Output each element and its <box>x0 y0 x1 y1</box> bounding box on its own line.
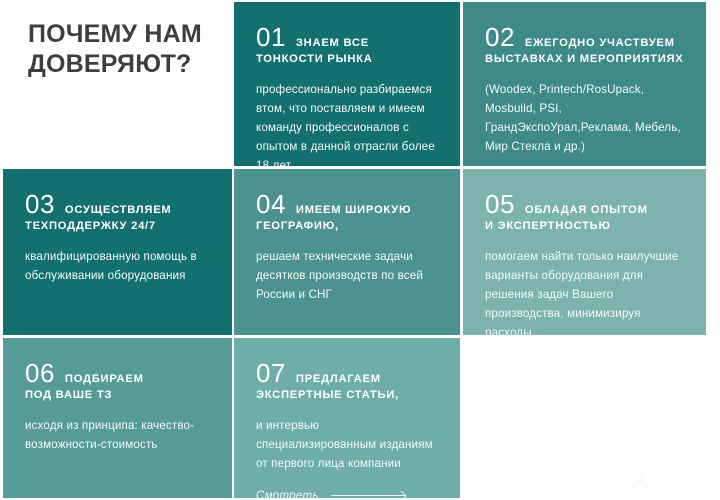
card-heading-first-line: 02 ЕЖЕГОДНО УЧАСТВУЕМ <box>485 24 686 51</box>
card-body-text: помогаем найти только наилучшие варианты… <box>485 248 686 335</box>
feature-card-03[interactable]: 03 ОСУЩЕСТВЛЯЕМ ТЕХПОДДЕРЖКУ 24/7 квалиф… <box>3 169 232 335</box>
card-content: 06 ПОДБИРАЕМ ПОД ВАШЕ ТЗ исходя из принц… <box>25 360 212 482</box>
card-content: 07 ПРЕДЛАГАЕМ ЭКСПЕРТНЫЕ СТАТЬИ, и интер… <box>256 360 440 482</box>
card-heading-first-line: 04 ИМЕЕМ ШИРОКУЮ <box>256 191 440 218</box>
infographic-board: ПОЧЕМУ НАМ ДОВЕРЯЮТ? 01 ЗНАЕМ ВСЕ ТОНКОС… <box>0 0 720 500</box>
card-number: 06 <box>25 360 55 386</box>
card-heading-line2: ЭКСПЕРТНЫЕ СТАТЬИ, <box>256 387 440 403</box>
avito-watermark-label: Avito <box>656 467 706 488</box>
card-heading-line1: ЗНАЕМ ВСЕ <box>296 35 369 51</box>
card-heading: 01 ЗНАЕМ ВСЕ ТОНКОСТИ РЫНКА <box>256 24 440 67</box>
card-heading-line1: ПОДБИРАЕМ <box>65 371 144 387</box>
avito-dots-icon <box>630 469 651 487</box>
card-body-text: (Woodex, Printech/RosUpack, Mosbuild, PS… <box>485 81 686 156</box>
card-body-text: квалифицированную помощь в обслуживании … <box>25 248 212 286</box>
card-number: 07 <box>256 360 286 386</box>
card-heading: 07 ПРЕДЛАГАЕМ ЭКСПЕРТНЫЕ СТАТЬИ, <box>256 360 440 403</box>
arrow-right-icon <box>331 491 405 498</box>
feature-card-06[interactable]: 06 ПОДБИРАЕМ ПОД ВАШЕ ТЗ исходя из принц… <box>3 338 232 498</box>
feature-card-02[interactable]: 02 ЕЖЕГОДНО УЧАСТВУЕМ ВЫСТАВКАХ И МЕРОПР… <box>463 2 706 166</box>
card-heading-line2: ТОНКОСТИ РЫНКА <box>256 51 440 67</box>
card-heading-first-line: 01 ЗНАЕМ ВСЕ <box>256 24 440 51</box>
card-heading-line1: ОБЛАДАЯ ОПЫТОМ <box>525 202 648 218</box>
card-heading-first-line: 05 ОБЛАДАЯ ОПЫТОМ <box>485 191 686 218</box>
card-number: 03 <box>25 191 55 217</box>
card-heading-first-line: 03 ОСУЩЕСТВЛЯЕМ <box>25 191 212 218</box>
card-number: 01 <box>256 24 286 50</box>
avito-watermark: Avito <box>630 467 706 488</box>
card-body-text: и интервью специализированным изданиям о… <box>256 417 440 473</box>
card-heading: 04 ИМЕЕМ ШИРОКУЮ ГЕОГРАФИЮ, <box>256 191 440 234</box>
card-body-text: исходя из принципа: качество-возможности… <box>25 417 212 455</box>
card-number: 04 <box>256 191 286 217</box>
card-heading-line1: ПРЕДЛАГАЕМ <box>296 371 381 387</box>
card-content: 01 ЗНАЕМ ВСЕ ТОНКОСТИ РЫНКА профессионал… <box>256 24 440 150</box>
card-number: 05 <box>485 191 515 217</box>
card-heading-line1: ИМЕЕМ ШИРОКУЮ <box>296 202 411 218</box>
card-heading-line1: ОСУЩЕСТВЛЯЕМ <box>65 202 172 218</box>
card-more-link-label: Смотреть <box>256 490 319 498</box>
page-title: ПОЧЕМУ НАМ ДОВЕРЯЮТ? <box>28 20 218 79</box>
title-block: ПОЧЕМУ НАМ ДОВЕРЯЮТ? <box>0 0 232 168</box>
card-heading-line2: ВЫСТАВКАХ И МЕРОПРИЯТИЯХ <box>485 51 686 67</box>
card-heading-line2: ПОД ВАШЕ ТЗ <box>25 387 212 403</box>
card-heading-line2: ТЕХПОДДЕРЖКУ 24/7 <box>25 218 212 234</box>
card-content: 04 ИМЕЕМ ШИРОКУЮ ГЕОГРАФИЮ, решаем техни… <box>256 191 440 319</box>
card-heading-line2: И ЭКСПЕРТНОСТЬЮ <box>485 218 686 234</box>
card-body-text: профессионально разбираемся втом, что по… <box>256 81 440 166</box>
card-number: 02 <box>485 24 515 50</box>
card-body-text: решаем технические задачи десятков произ… <box>256 248 440 304</box>
card-heading-line1: ЕЖЕГОДНО УЧАСТВУЕМ <box>525 35 675 51</box>
card-heading: 03 ОСУЩЕСТВЛЯЕМ ТЕХПОДДЕРЖКУ 24/7 <box>25 191 212 234</box>
card-heading-first-line: 06 ПОДБИРАЕМ <box>25 360 212 387</box>
feature-card-05[interactable]: 05 ОБЛАДАЯ ОПЫТОМ И ЭКСПЕРТНОСТЬЮ помога… <box>463 169 706 335</box>
feature-card-01[interactable]: 01 ЗНАЕМ ВСЕ ТОНКОСТИ РЫНКА профессионал… <box>234 2 460 166</box>
card-content: 02 ЕЖЕГОДНО УЧАСТВУЕМ ВЫСТАВКАХ И МЕРОПР… <box>485 24 686 150</box>
card-content: 03 ОСУЩЕСТВЛЯЕМ ТЕХПОДДЕРЖКУ 24/7 квалиф… <box>25 191 212 319</box>
card-more-link[interactable]: Смотреть <box>256 490 440 498</box>
card-content: 05 ОБЛАДАЯ ОПЫТОМ И ЭКСПЕРТНОСТЬЮ помога… <box>485 191 686 319</box>
card-heading-first-line: 07 ПРЕДЛАГАЕМ <box>256 360 440 387</box>
card-heading: 05 ОБЛАДАЯ ОПЫТОМ И ЭКСПЕРТНОСТЬЮ <box>485 191 686 234</box>
card-heading: 06 ПОДБИРАЕМ ПОД ВАШЕ ТЗ <box>25 360 212 403</box>
feature-card-07[interactable]: 07 ПРЕДЛАГАЕМ ЭКСПЕРТНЫЕ СТАТЬИ, и интер… <box>234 338 460 498</box>
card-heading: 02 ЕЖЕГОДНО УЧАСТВУЕМ ВЫСТАВКАХ И МЕРОПР… <box>485 24 686 67</box>
feature-card-04[interactable]: 04 ИМЕЕМ ШИРОКУЮ ГЕОГРАФИЮ, решаем техни… <box>234 169 460 335</box>
card-heading-line2: ГЕОГРАФИЮ, <box>256 218 440 234</box>
